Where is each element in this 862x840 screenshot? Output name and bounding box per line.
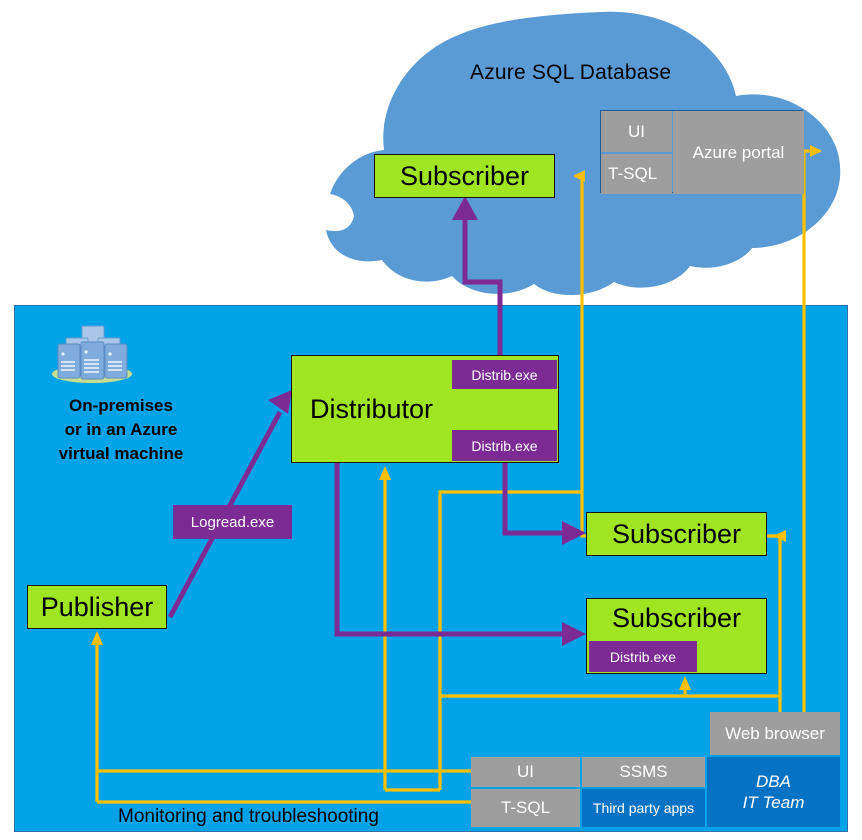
cloud-tsql-label: T-SQL: [608, 164, 657, 184]
publisher-label: Publisher: [41, 592, 154, 623]
onprem-ui-chip[interactable]: UI: [471, 757, 580, 787]
diagram-canvas: Azure SQL Database: [0, 0, 862, 840]
ssms-chip[interactable]: SSMS: [582, 757, 705, 787]
azure-portal-label: Azure portal: [693, 143, 785, 163]
cloud-ui-label: UI: [628, 122, 645, 142]
web-browser-label: Web browser: [725, 724, 825, 744]
dba-label: DBA: [756, 771, 791, 792]
dba-it-team-chip[interactable]: DBA IT Team: [707, 757, 840, 827]
onprem-zone-line-3: virtual machine: [31, 442, 211, 466]
logread-agent-label: Logread.exe: [191, 514, 274, 531]
monitoring-caption: Monitoring and troubleshooting: [118, 806, 538, 828]
logread-agent-tag[interactable]: Logread.exe: [173, 505, 292, 539]
distributor-label: Distributor: [310, 394, 433, 425]
third-party-apps-label: Third party apps: [593, 800, 694, 816]
distributor-agent-2-label: Distrib.exe: [471, 438, 537, 454]
onprem-zone-line-2: or in an Azure: [31, 418, 211, 442]
onprem-subscriber-2-agent-label: Distrib.exe: [610, 649, 676, 665]
cloud-tsql-chip[interactable]: T-SQL: [601, 154, 672, 194]
onprem-subscriber-2-label: Subscriber: [612, 603, 741, 634]
ssms-label: SSMS: [619, 762, 667, 782]
azure-portal-chip[interactable]: Azure portal: [673, 111, 804, 194]
it-team-label: IT Team: [743, 792, 805, 813]
onprem-subscriber-2-agent[interactable]: Distrib.exe: [589, 641, 697, 672]
cloud-subscriber-node[interactable]: Subscriber: [374, 154, 555, 198]
onprem-ui-label: UI: [517, 762, 534, 782]
onprem-subscriber-1[interactable]: Subscriber: [586, 512, 767, 556]
cloud-ui-chip[interactable]: UI: [601, 111, 672, 152]
third-party-apps-chip[interactable]: Third party apps: [582, 789, 705, 827]
web-browser-chip[interactable]: Web browser: [710, 712, 840, 755]
server-farm-icon: [44, 322, 140, 384]
azure-portal-group[interactable]: UI T-SQL Azure portal: [600, 110, 803, 193]
onprem-zone-label: On-premises or in an Azure virtual machi…: [31, 394, 211, 466]
distributor-agent-1[interactable]: Distrib.exe: [452, 360, 557, 389]
cloud-subscriber-label: Subscriber: [400, 161, 529, 192]
onprem-zone-line-1: On-premises: [31, 394, 211, 418]
publisher-node[interactable]: Publisher: [27, 585, 167, 629]
distributor-agent-1-label: Distrib.exe: [471, 367, 537, 383]
distributor-agent-2[interactable]: Distrib.exe: [452, 430, 557, 461]
onprem-subscriber-1-label: Subscriber: [612, 519, 741, 550]
